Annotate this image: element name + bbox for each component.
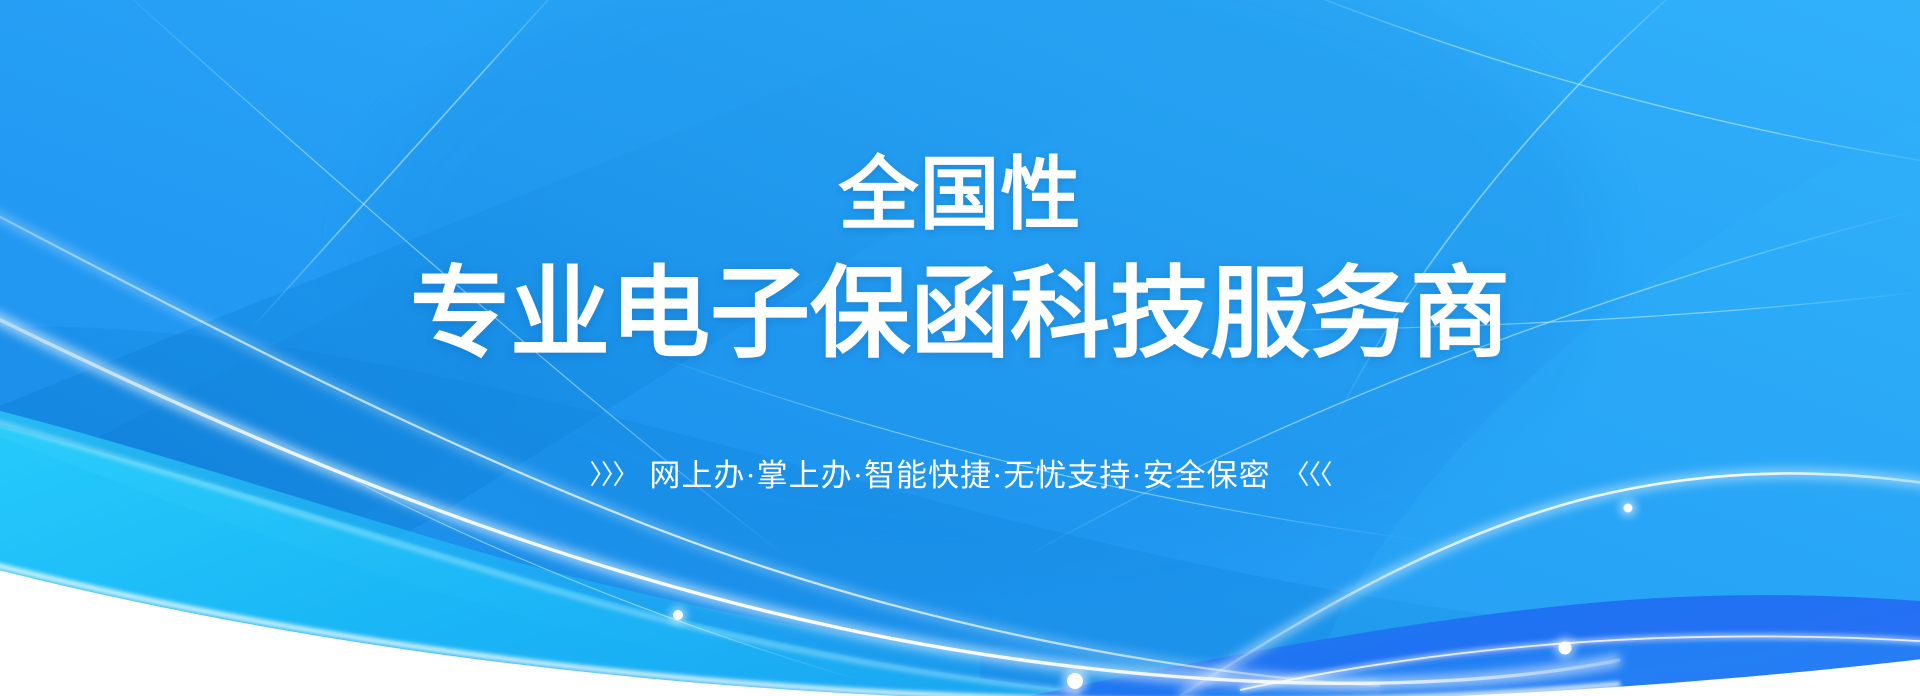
hero-banner: 全国性 专业电子保函科技服务商 〉〉〉网上办·掌上办·智能快捷·无忧支持·安全保…	[0, 0, 1920, 696]
chevron-right-triple-icon: 〉〉〉	[589, 455, 637, 495]
banner-headline-line-2: 专业电子保函科技服务商	[0, 258, 1920, 370]
chevron-left-triple-icon: 〈〈〈	[1283, 455, 1331, 495]
banner-content: 全国性 专业电子保函科技服务商 〉〉〉网上办·掌上办·智能快捷·无忧支持·安全保…	[0, 0, 1920, 696]
banner-subtitle: 〉〉〉网上办·掌上办·智能快捷·无忧支持·安全保密〈〈〈	[0, 455, 1920, 496]
banner-headline-line-1: 全国性	[0, 152, 1920, 238]
banner-subtitle-text: 网上办·掌上办·智能快捷·无忧支持·安全保密	[649, 458, 1270, 493]
